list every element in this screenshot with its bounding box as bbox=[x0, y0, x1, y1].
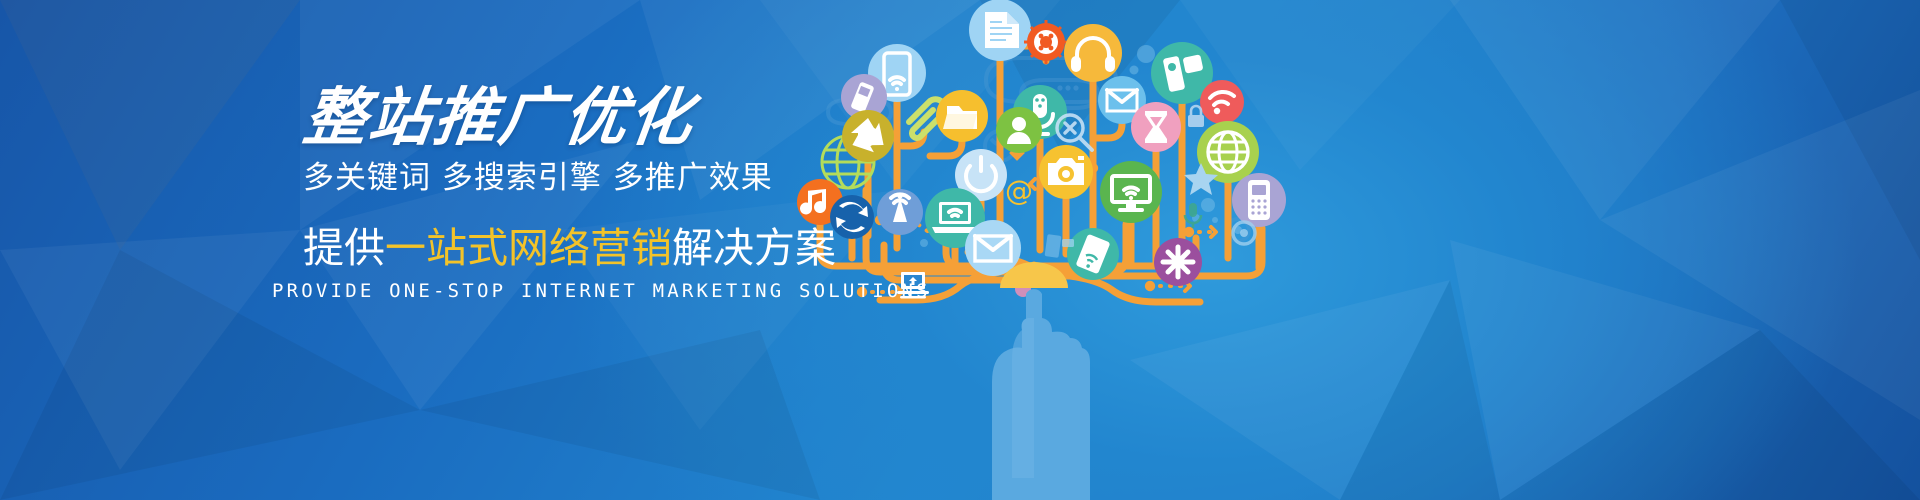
monitor-wifi-icon bbox=[1100, 161, 1162, 223]
document-icon bbox=[969, 0, 1031, 61]
banner-english-tagline: PROVIDE ONE-STOP INTERNET MARKETING SOLU… bbox=[272, 282, 931, 301]
wifi-signal-icon bbox=[1200, 80, 1244, 124]
at-sign-icon: @ bbox=[1005, 174, 1033, 207]
hourglass-icon bbox=[1131, 102, 1181, 152]
page-title: 整站推广优化 bbox=[300, 86, 698, 149]
svg-text:@: @ bbox=[1005, 174, 1033, 207]
user-icon bbox=[996, 107, 1042, 153]
envelope-large-icon bbox=[965, 220, 1021, 276]
promo-banner: .br{fill:none;stroke:#f5a037;stroke-widt… bbox=[0, 0, 1920, 500]
banner-subline: 多关键词 多搜索引擎 多推广效果 bbox=[303, 163, 773, 194]
lock-icon bbox=[1188, 106, 1204, 127]
tablet-wifi-icon bbox=[1067, 228, 1119, 280]
camera-icon bbox=[1039, 145, 1093, 199]
tagline-suffix: 解决方案 bbox=[672, 224, 836, 272]
antenna-icon bbox=[877, 189, 923, 235]
asterisk-icon bbox=[1154, 238, 1202, 286]
tagline-highlight: 一站式网络营销 bbox=[385, 224, 672, 272]
folder-icon bbox=[936, 90, 988, 142]
pointing-hand bbox=[992, 262, 1090, 500]
tagline-prefix: 提供 bbox=[303, 224, 385, 272]
headphones-icon bbox=[1064, 24, 1122, 82]
banner-copy: 整站推广优化 多关键词 多搜索引擎 多推广效果 提供一站式网络营销解决方案 PR… bbox=[0, 0, 860, 500]
globe-grid-icon bbox=[1197, 121, 1259, 183]
banner-tagline: 提供一站式网络营销解决方案 bbox=[303, 228, 836, 269]
mobile-keypad-icon bbox=[1232, 173, 1286, 227]
